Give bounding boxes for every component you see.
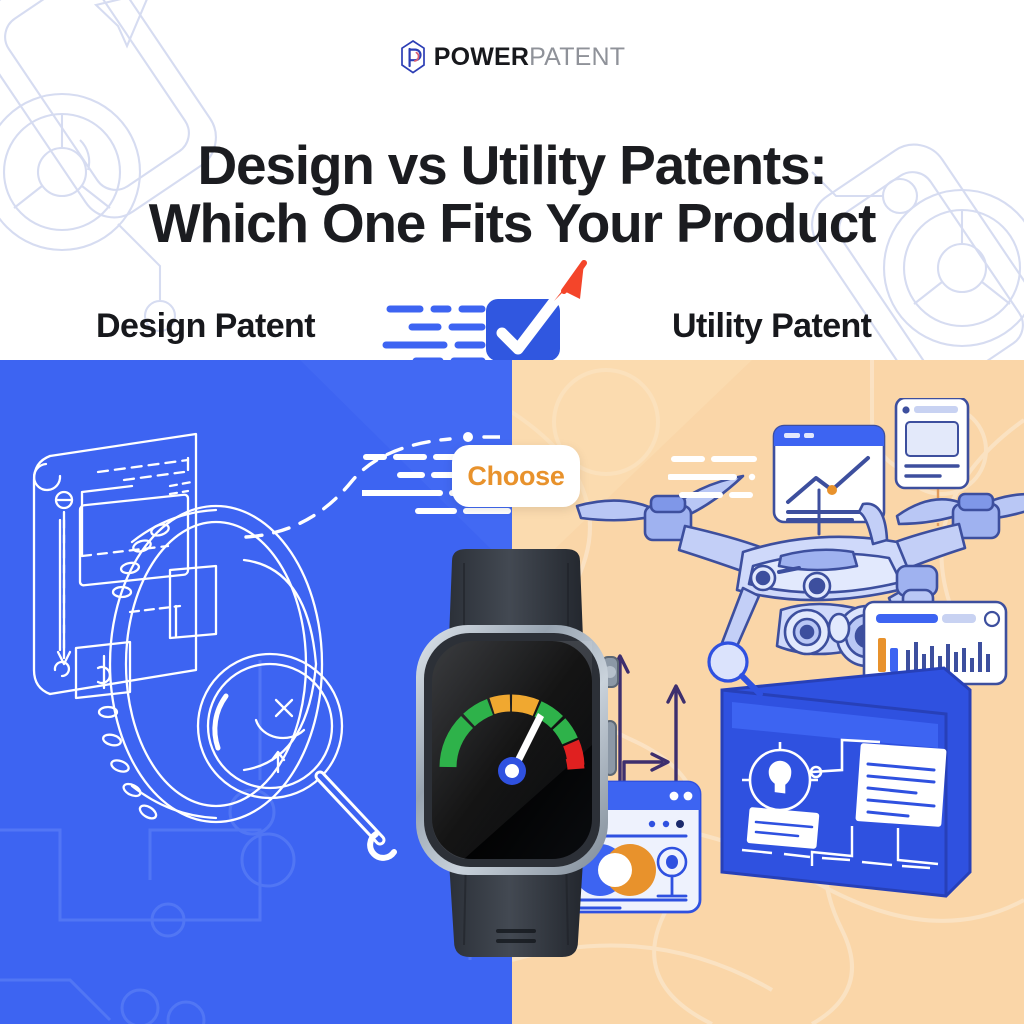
powerpatent-shield-p-icon	[399, 39, 427, 75]
infographic-canvas: POWERPATENT Design vs Utility Patents: W…	[0, 0, 1024, 1024]
brand-name-bold: POWER	[434, 43, 529, 71]
choose-badge-label: Choose	[467, 461, 564, 492]
choose-badge[interactable]: Choose	[452, 445, 580, 507]
checkmark-arrow-growth-icon	[378, 255, 590, 360]
design-patent-label: Design Patent	[96, 288, 315, 360]
page-title-line1: Design vs Utility Patents:	[198, 134, 827, 196]
utility-patent-label: Utility Patent	[672, 288, 871, 360]
utility-magnifier-icon	[698, 634, 768, 704]
brand-name: POWERPATENT	[434, 45, 626, 70]
page-title: Design vs Utility Patents: Which One Fit…	[0, 137, 1024, 253]
page-title-line2: Which One Fits Your Product	[0, 195, 1024, 253]
choose-badge-row: Choose	[0, 445, 1024, 515]
brand-name-light: PATENT	[529, 43, 625, 71]
header-section: POWERPATENT Design vs Utility Patents: W…	[0, 0, 1024, 360]
smartwatch	[402, 545, 630, 965]
brand-logo: POWERPATENT	[0, 36, 1024, 78]
comparison-panels: Choose	[0, 360, 1024, 1024]
